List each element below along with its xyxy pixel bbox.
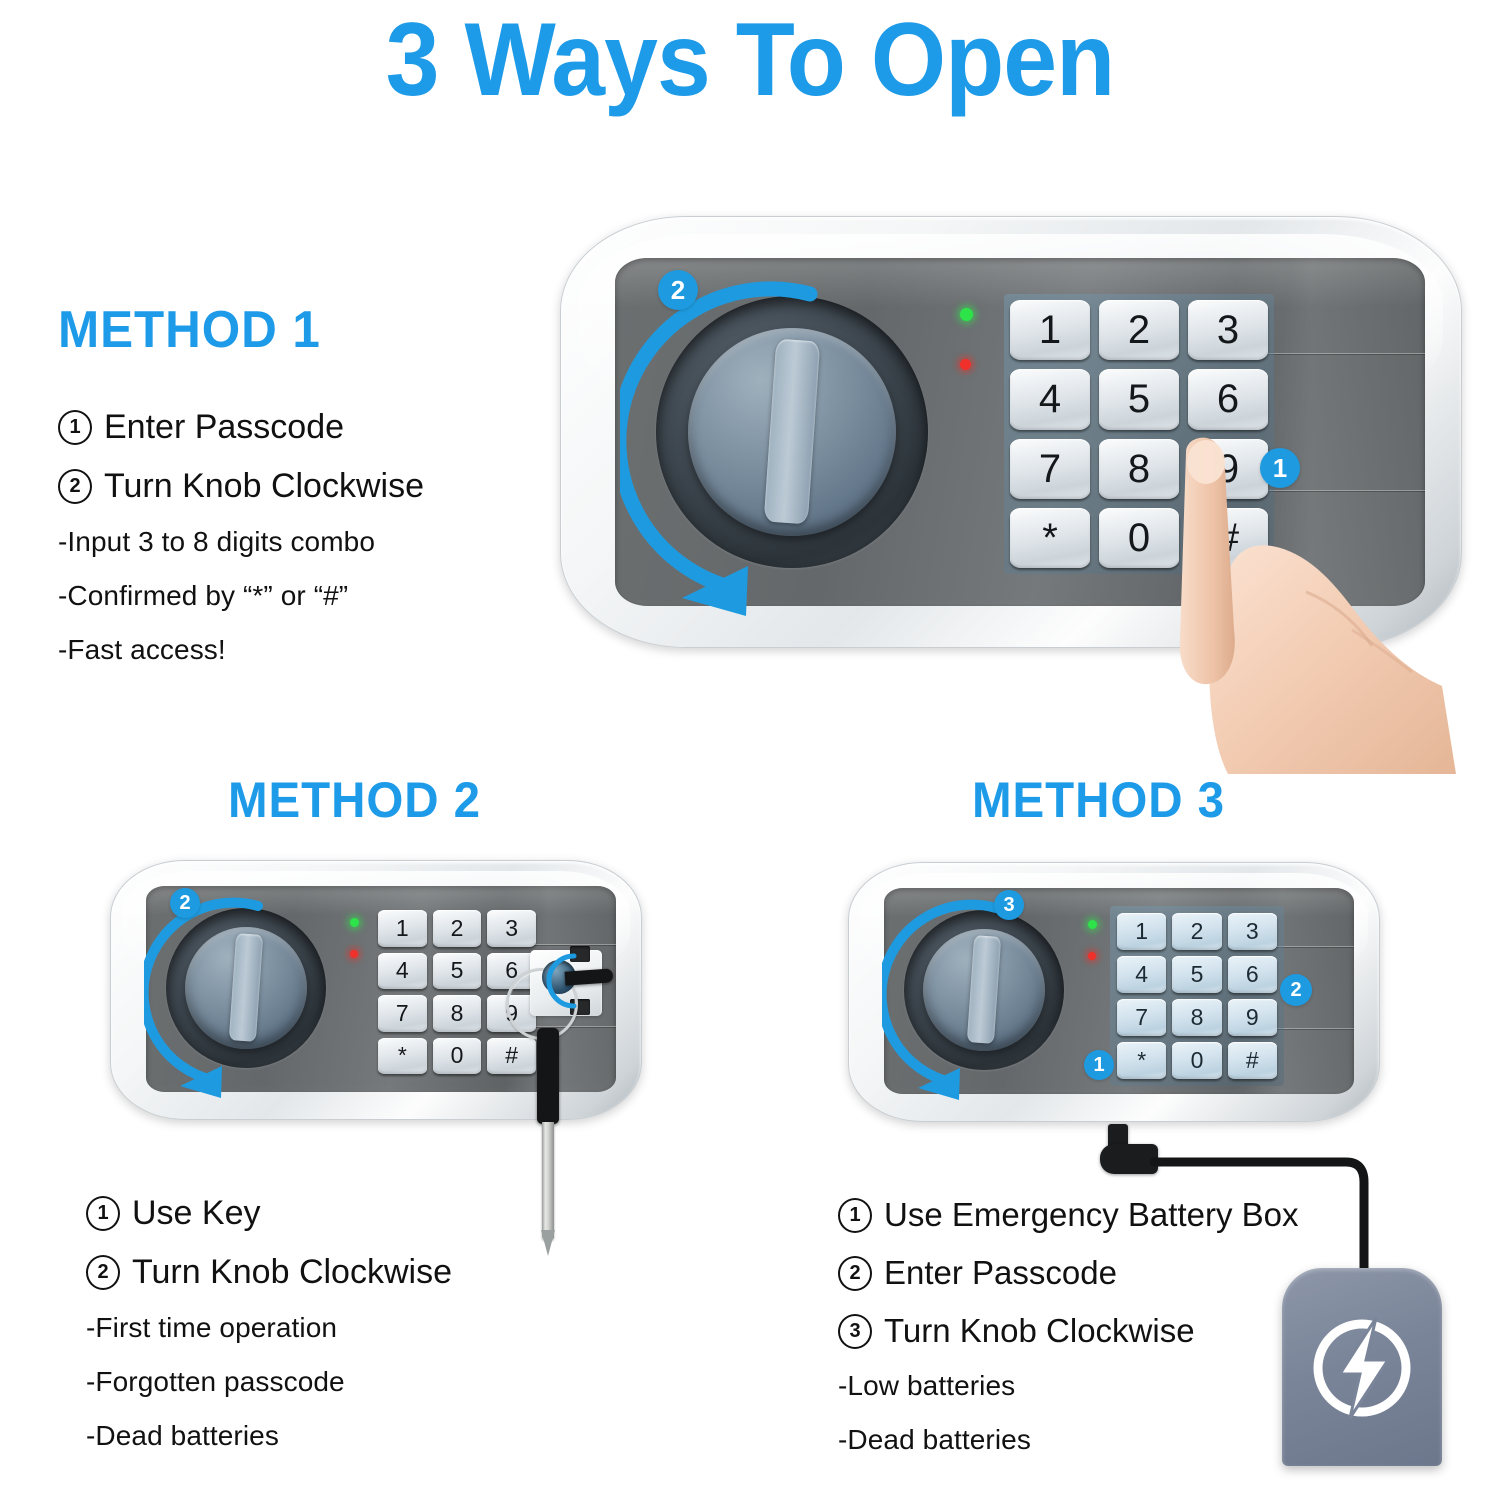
step-number-circle: 2 xyxy=(838,1256,872,1291)
method-3-heading: METHOD 3 xyxy=(972,771,1225,829)
keypad-key-0[interactable]: 0 xyxy=(1172,1042,1221,1079)
lightning-bolt-icon xyxy=(1306,1312,1418,1424)
red-led-icon xyxy=(350,950,358,958)
keypad-key-star[interactable]: * xyxy=(1010,508,1090,568)
emergency-battery-box[interactable] xyxy=(1282,1268,1442,1466)
safe-knob[interactable] xyxy=(688,328,896,536)
key-handle xyxy=(537,1028,559,1124)
method-2-bullet-1: -First time operation xyxy=(86,1312,452,1344)
keypad-key-star[interactable]: * xyxy=(1117,1042,1166,1079)
method-1-bullet-1: -Input 3 to 8 digits combo xyxy=(58,526,424,558)
keypad-key-7[interactable]: 7 xyxy=(378,995,427,1032)
step-label: Enter Passcode xyxy=(884,1254,1117,1292)
step-number-circle: 2 xyxy=(58,469,92,504)
keypad-key-hash[interactable]: # xyxy=(487,1038,536,1075)
step-number-circle: 1 xyxy=(86,1196,120,1231)
lock-bolt xyxy=(570,946,590,962)
key-blade xyxy=(542,1122,554,1240)
keypad-key-5[interactable]: 5 xyxy=(433,953,482,990)
keypad-key-8[interactable]: 8 xyxy=(1099,439,1179,499)
method-3-bullet-1: -Low batteries xyxy=(838,1370,1299,1402)
method-2-bullet-3: -Dead batteries xyxy=(86,1420,452,1452)
knob-grip-bar xyxy=(967,936,1001,1045)
step-label: Turn Knob Clockwise xyxy=(104,467,424,506)
keypad-key-3[interactable]: 3 xyxy=(487,910,536,947)
keypad-key-4[interactable]: 4 xyxy=(378,953,427,990)
method-2-heading: METHOD 2 xyxy=(228,771,481,829)
step-number-circle: 1 xyxy=(58,410,92,445)
green-led-icon xyxy=(1088,920,1097,929)
step-label: Use Key xyxy=(132,1194,261,1233)
badge-method3-step3: 3 xyxy=(994,890,1024,920)
safe-knob[interactable] xyxy=(923,929,1045,1051)
method-2-instructions: 1 Use Key 2 Turn Knob Clockwise -First t… xyxy=(86,1194,452,1474)
red-led-icon xyxy=(960,359,971,370)
badge-method2-step2: 2 xyxy=(170,888,200,918)
keypad-key-1[interactable]: 1 xyxy=(1117,913,1166,950)
keypad-key-3[interactable]: 3 xyxy=(1228,913,1277,950)
keypad-key-9[interactable]: 9 xyxy=(1228,999,1277,1036)
green-led-icon xyxy=(960,308,973,321)
keypad-key-5[interactable]: 5 xyxy=(1099,369,1179,429)
keypad-key-7[interactable]: 7 xyxy=(1117,999,1166,1036)
method-3-step-3: 3 Turn Knob Clockwise xyxy=(838,1312,1299,1350)
red-led-icon xyxy=(1088,952,1096,960)
safe-keypad-panel-2: 123456789*0# 2 xyxy=(110,860,640,1118)
method-1-heading: METHOD 1 xyxy=(58,300,321,360)
safe-keypad-panel-1: 123456789*0# 2 1 xyxy=(560,216,1460,646)
knob-grip-bar xyxy=(764,339,821,525)
method-1-instructions: 1 Enter Passcode 2 Turn Knob Clockwise -… xyxy=(58,408,424,688)
keypad-key-1[interactable]: 1 xyxy=(378,910,427,947)
step-number-circle: 2 xyxy=(86,1255,120,1290)
safe-knob[interactable] xyxy=(185,927,307,1049)
method-1-step-2: 2 Turn Knob Clockwise xyxy=(58,467,424,506)
method-2-bullet-2: -Forgotten passcode xyxy=(86,1366,452,1398)
step-label: Use Emergency Battery Box xyxy=(884,1196,1299,1234)
badge-method3-step2: 2 xyxy=(1280,974,1312,1006)
method-3-bullet-2: -Dead batteries xyxy=(838,1424,1299,1456)
method-2-step-2: 2 Turn Knob Clockwise xyxy=(86,1253,452,1292)
method-3-step-2: 2 Enter Passcode xyxy=(838,1254,1299,1292)
keypad-3[interactable]: 123456789*0# xyxy=(1110,906,1284,1086)
badge-method1-step2: 2 xyxy=(658,270,698,310)
keypad-key-hash[interactable]: # xyxy=(1188,508,1268,568)
keypad-key-2[interactable]: 2 xyxy=(1172,913,1221,950)
badge-method3-step1: 1 xyxy=(1084,1050,1114,1080)
green-led-icon xyxy=(350,918,359,927)
method-2-step-1: 1 Use Key xyxy=(86,1194,452,1233)
keypad-key-0[interactable]: 0 xyxy=(433,1038,482,1075)
keypad-key-0[interactable]: 0 xyxy=(1099,508,1179,568)
method-3-step-1: 1 Use Emergency Battery Box xyxy=(838,1196,1299,1234)
key-tip xyxy=(540,1230,556,1256)
step-label: Turn Knob Clockwise xyxy=(884,1312,1195,1350)
step-number-circle: 3 xyxy=(838,1314,872,1349)
step-label: Turn Knob Clockwise xyxy=(132,1253,452,1292)
badge-method1-step1: 1 xyxy=(1260,448,1300,488)
keypad-key-8[interactable]: 8 xyxy=(1172,999,1221,1036)
keypad-key-2[interactable]: 2 xyxy=(1099,300,1179,360)
keypad-key-2[interactable]: 2 xyxy=(433,910,482,947)
keypad-key-6[interactable]: 6 xyxy=(1228,956,1277,993)
method-1-bullet-2: -Confirmed by “*” or “#” xyxy=(58,580,424,612)
keypad-1[interactable]: 123456789*0# xyxy=(1004,294,1274,574)
knob-grip-bar xyxy=(229,934,263,1043)
page-title: 3 Ways To Open xyxy=(53,6,1448,115)
step-label: Enter Passcode xyxy=(104,408,344,447)
infographic-canvas: 3 Ways To Open METHOD 1 1 Enter Passcode… xyxy=(0,0,1500,1500)
keypad-key-3[interactable]: 3 xyxy=(1188,300,1268,360)
keypad-key-1[interactable]: 1 xyxy=(1010,300,1090,360)
keypad-key-5[interactable]: 5 xyxy=(1172,956,1221,993)
keypad-key-6[interactable]: 6 xyxy=(1188,369,1268,429)
keypad-key-hash[interactable]: # xyxy=(1228,1042,1277,1079)
keypad-key-4[interactable]: 4 xyxy=(1117,956,1166,993)
keypad-key-star[interactable]: * xyxy=(378,1038,427,1075)
method-3-instructions: 1 Use Emergency Battery Box 2 Enter Pass… xyxy=(838,1196,1299,1478)
safe-keypad-panel-3: 123456789*0# 3 2 1 xyxy=(848,862,1378,1120)
cable-plug-body xyxy=(1100,1144,1158,1174)
keypad-key-9[interactable]: 9 xyxy=(1188,439,1268,499)
method-1-step-1: 1 Enter Passcode xyxy=(58,408,424,447)
step-number-circle: 1 xyxy=(838,1198,872,1233)
keypad-key-8[interactable]: 8 xyxy=(433,995,482,1032)
method-1-bullet-3: -Fast access! xyxy=(58,634,424,666)
keypad-key-7[interactable]: 7 xyxy=(1010,439,1090,499)
keypad-key-4[interactable]: 4 xyxy=(1010,369,1090,429)
